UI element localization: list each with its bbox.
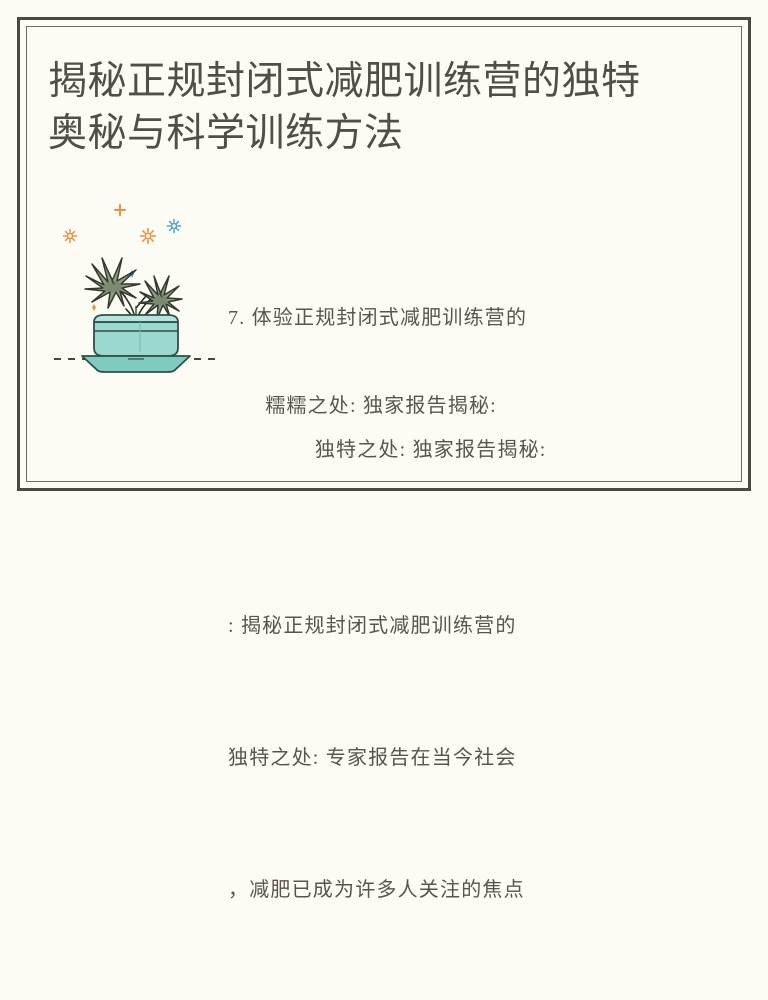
- article-body-line: 独特之处: 专家报告在当今社会: [228, 736, 698, 780]
- article-body-line: ，减肥已成为许多人关注的焦点: [228, 868, 698, 912]
- article-content: 7. 体验正规封闭式减肥训练营的 独特之处: 独家报告揭秘: 糯糯之处: 独家报…: [48, 196, 708, 446]
- article-body: 7. 体验正规封闭式减肥训练营的 独特之处: 独家报告揭秘: 糯糯之处: 独家报…: [228, 208, 698, 1000]
- plant-illustration: [48, 196, 224, 386]
- sparkle-plus-orange: [115, 205, 125, 215]
- article-body-line-overprinted: 独特之处: 独家报告揭秘: 糯糯之处: 独家报告揭秘:: [265, 384, 546, 560]
- article-body-line-over: 糯糯之处: 独家报告揭秘:: [265, 384, 546, 428]
- article-body-line-under: 独特之处: 独家报告揭秘:: [315, 439, 547, 461]
- sparkle-burst-blue: [168, 220, 181, 233]
- page-title: 揭秘正规封闭式减肥训练营的独特奥秘与科学训练方法: [48, 56, 648, 160]
- article-body-line: 7. 体验正规封闭式减肥训练营的: [228, 296, 698, 340]
- pot-saucer: [82, 356, 190, 372]
- sparkle-burst-orange-2: [141, 229, 156, 244]
- sparkle-burst-orange-1: [64, 230, 77, 243]
- article-card: 揭秘正规封闭式减肥训练营的独特奥秘与科学训练方法: [0, 0, 768, 510]
- plant-leaf-left: [85, 258, 140, 308]
- flower-pot: [94, 306, 178, 356]
- sparkle-dot-orange: [92, 304, 96, 311]
- article-body-line: : 揭秘正规封闭式减肥训练营的: [228, 604, 698, 648]
